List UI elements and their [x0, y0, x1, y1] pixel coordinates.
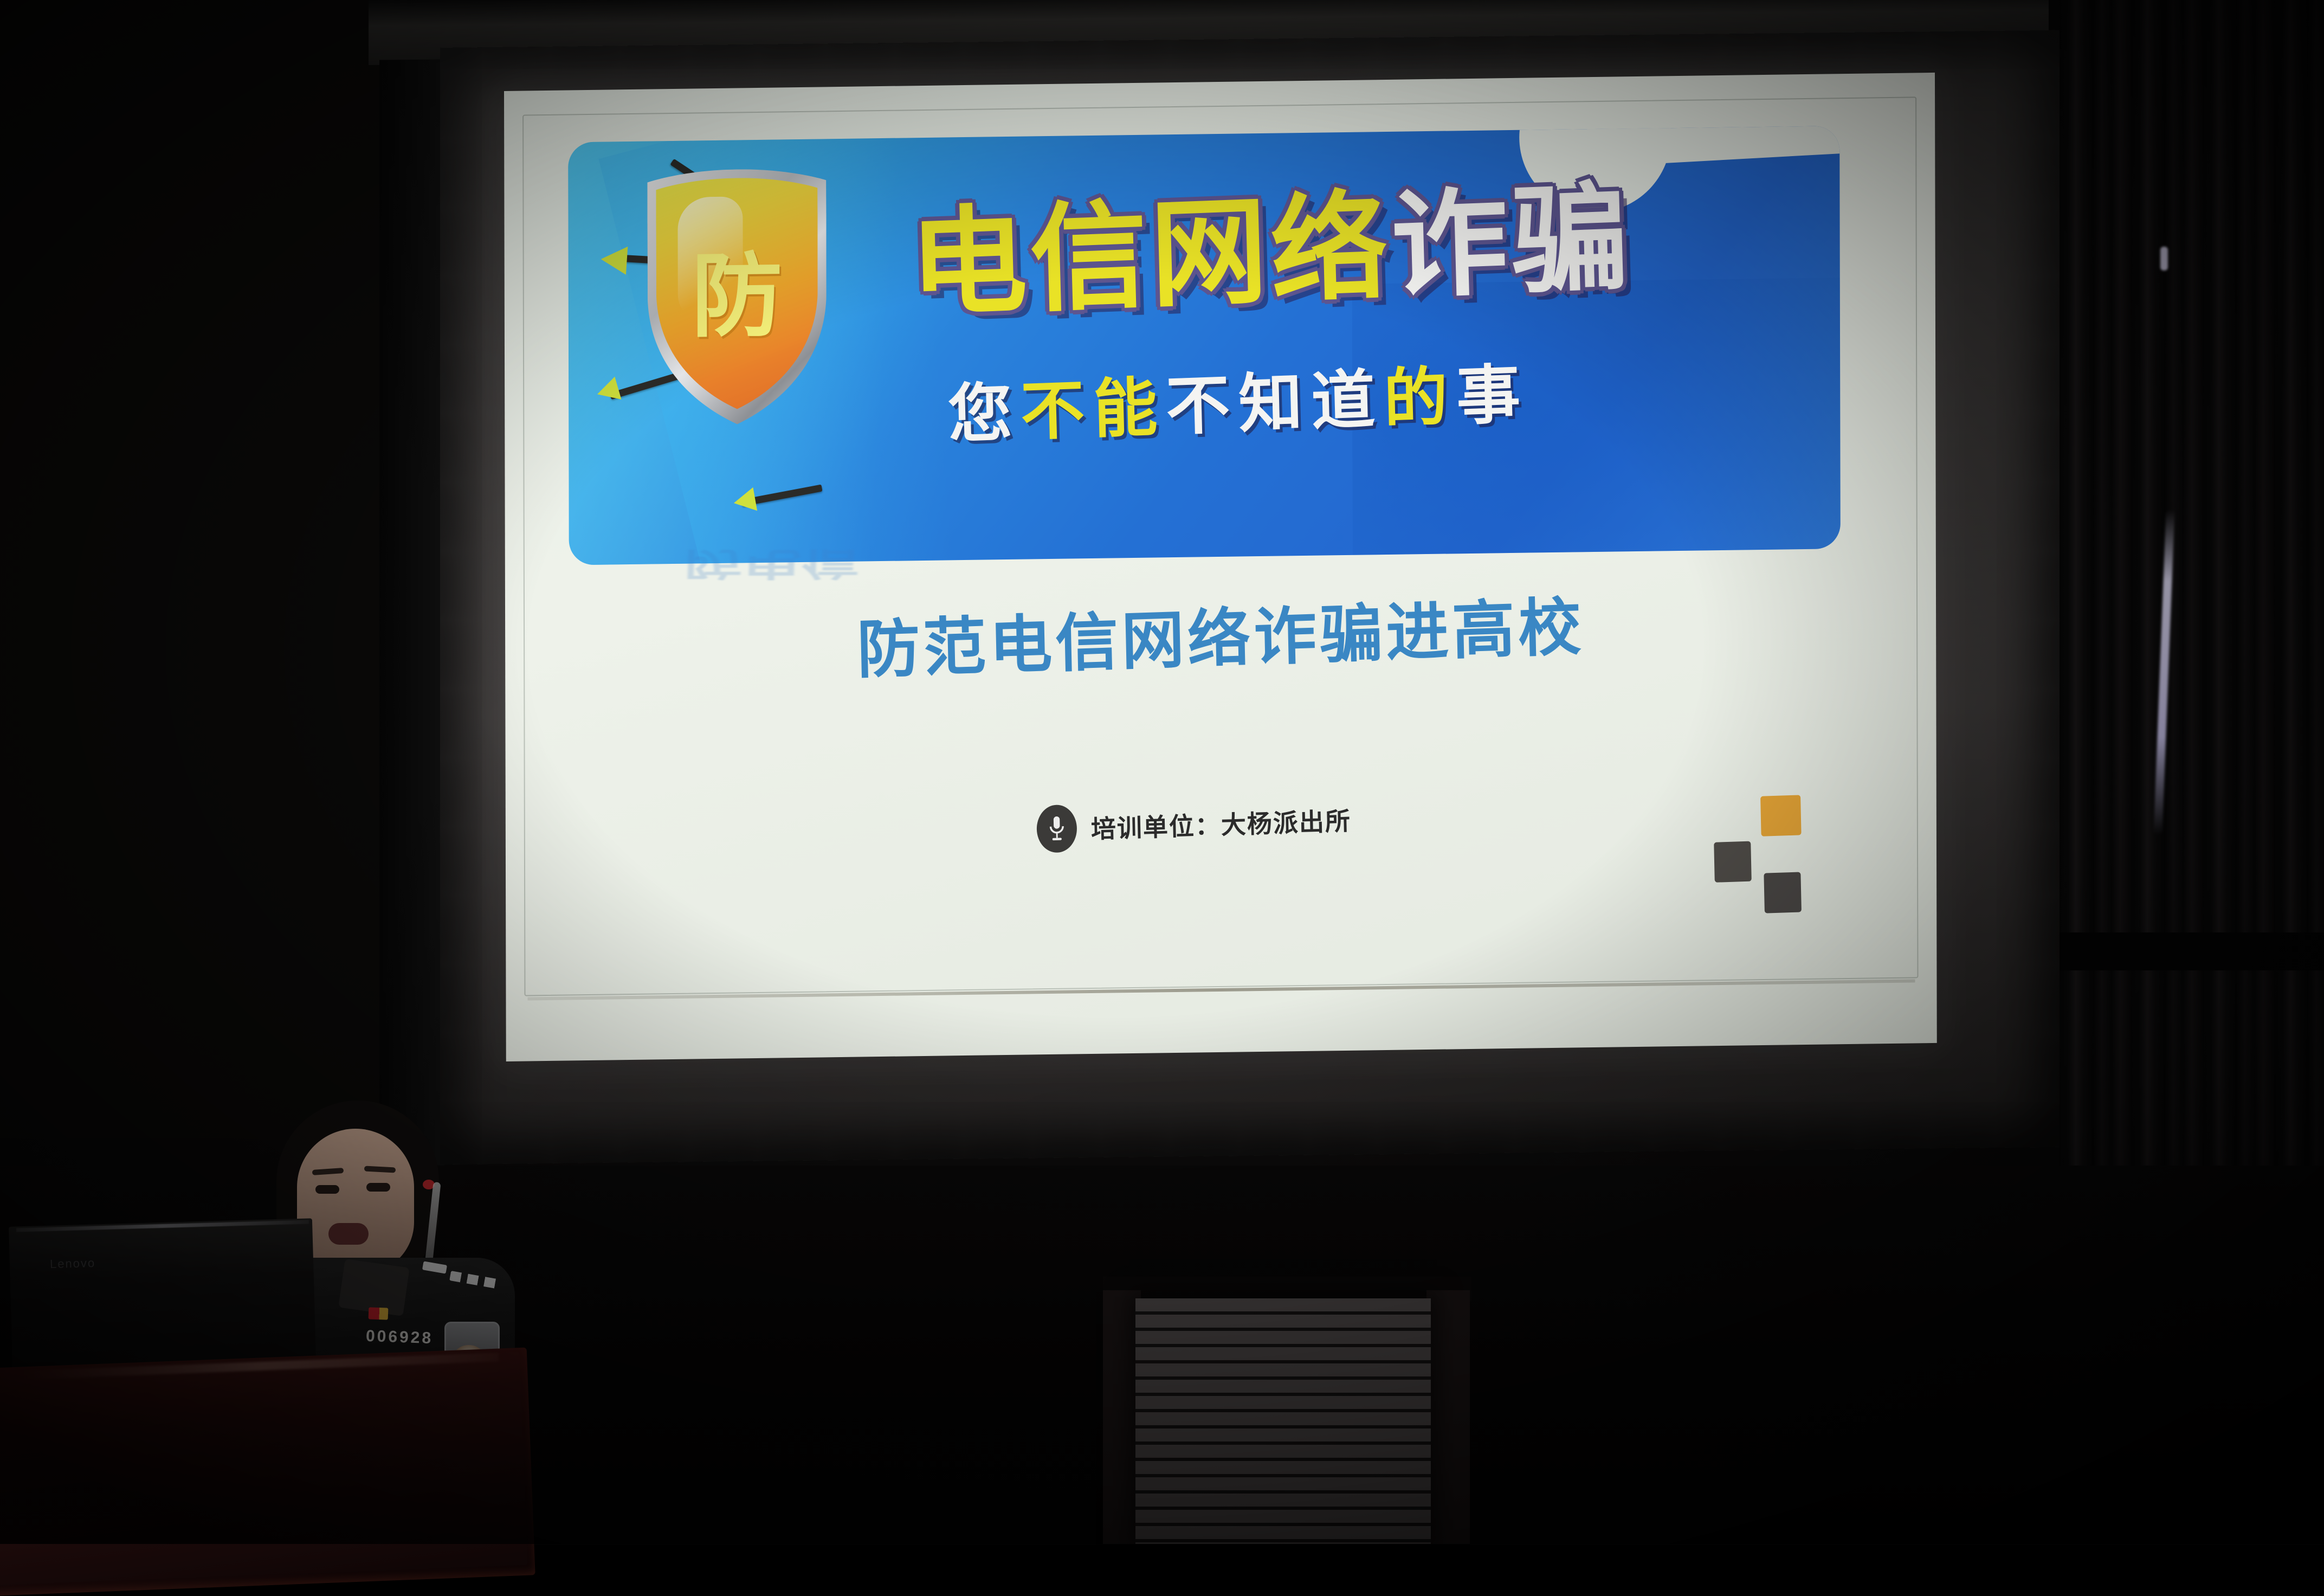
deco-square-orange [1760, 795, 1802, 836]
auditorium-room: 防 电信网络诈骗 您不能不知道的事 防电信 防范电信网络诈骗进高校 培训单位 [0, 0, 2324, 1544]
speaker-eye-left [315, 1185, 339, 1194]
slide-credit-row: 培训单位：大杨派出所 [1036, 795, 1352, 853]
speaker-mouth [328, 1223, 369, 1245]
slide-bottom-rule [528, 979, 1915, 1000]
microphone-icon [1036, 805, 1077, 853]
banner-title-white: 诈骗 [1389, 170, 1634, 314]
left-wall-dark [0, 0, 379, 1138]
banner-subtitle-seg-1: 您 [947, 375, 1022, 452]
louvered-vent-panel [1135, 1298, 1431, 1544]
shield-body: 防 [647, 168, 827, 425]
slide-headline: 防范电信网络诈骗进高校 [505, 585, 1936, 694]
lectern-podium [0, 1348, 535, 1596]
arrow-fletching-left [600, 245, 628, 275]
screen-left-shadow-strip [379, 59, 444, 1166]
laptop-brand-mark: Lenovo [50, 1256, 96, 1271]
banner-subtitle-seg-5: 事 [1455, 356, 1529, 434]
banner-notch-band [1587, 126, 1841, 168]
arrow-fletching-stray [732, 487, 757, 515]
banner-subtitle-seg-2: 不能 [1020, 369, 1167, 449]
speaker-brow-left [312, 1168, 344, 1175]
party-flag-pin [369, 1307, 389, 1320]
shield-character: 防 [648, 249, 827, 343]
vent-top-frame [1103, 1277, 1471, 1301]
banner-subtitle-seg-3: 不知道 [1165, 362, 1385, 444]
curtain-light-spot [2160, 247, 2168, 271]
speaker-brow-right [364, 1166, 396, 1173]
vent-right-frame [1426, 1290, 1470, 1544]
speaker-face [297, 1129, 414, 1274]
banner-title-yellow: 电信网络 [908, 179, 1393, 333]
microphone-glyph [1047, 814, 1066, 843]
banner-subtitle: 您不能不知道的事 [947, 362, 1530, 446]
shield-graphic: 防 [632, 163, 860, 539]
uniform-badge-number: 006928 [365, 1327, 433, 1348]
slide-hero-banner: 防 电信网络诈骗 您不能不知道的事 [568, 126, 1841, 565]
credit-label: 培训单位：大杨派出所 [1090, 801, 1351, 845]
deco-square-gray-1 [1714, 841, 1752, 883]
deco-square-gray-2 [1764, 872, 1802, 913]
banner-reflection: 防电信 [683, 551, 1096, 590]
banner-title: 电信网络诈骗 [908, 179, 1633, 324]
banner-subtitle-seg-4: 的 [1383, 359, 1457, 436]
speaker-eye-right [366, 1183, 390, 1192]
presentation-slide: 防 电信网络诈骗 您不能不知道的事 防电信 防范电信网络诈骗进高校 培训单位 [504, 73, 1937, 1061]
curtain-shadow-band [2060, 932, 2324, 970]
